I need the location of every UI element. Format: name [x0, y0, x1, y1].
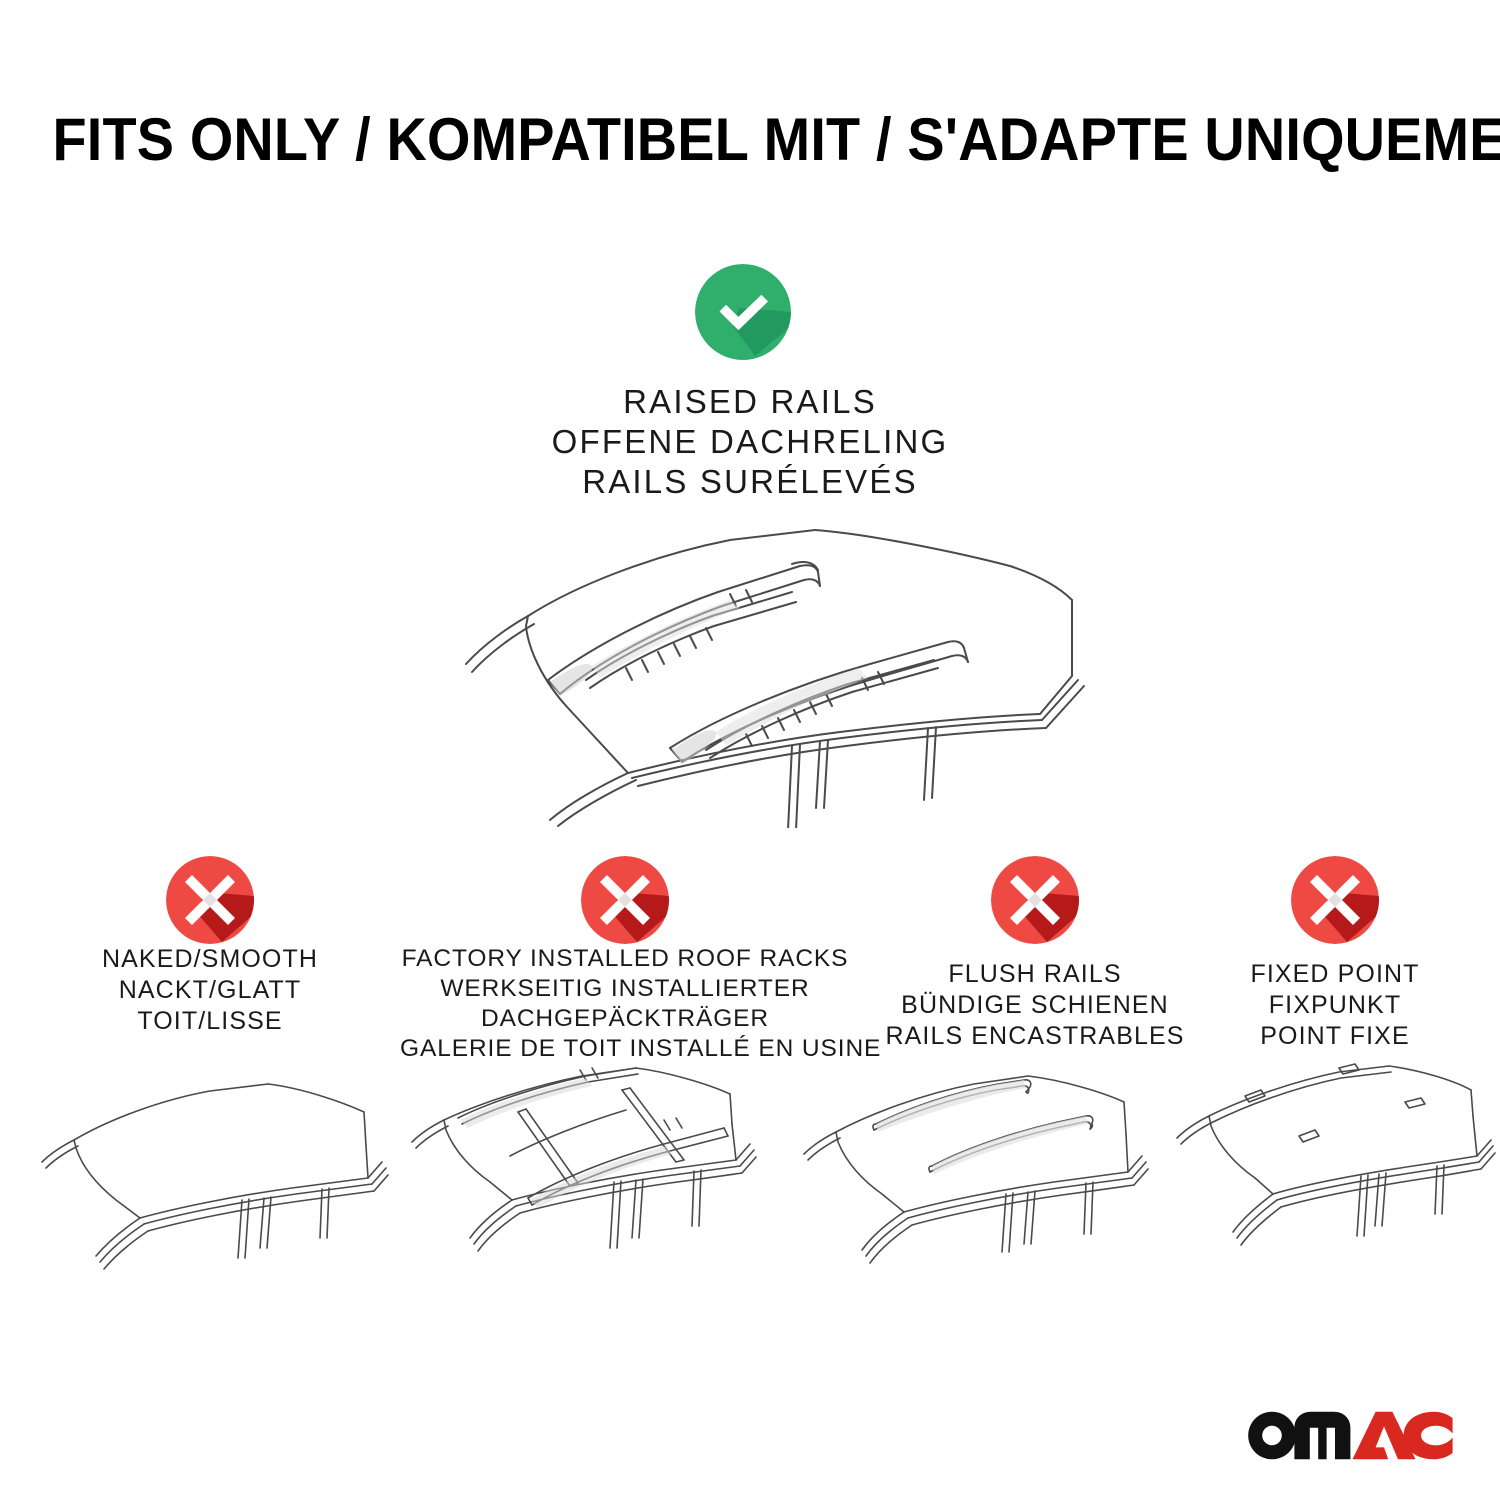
cross-circle-icon [991, 856, 1079, 944]
car-roof-raised-rails-diagram [400, 508, 1100, 828]
label-line: FIXED POINT [1200, 959, 1470, 990]
cross-circle-icon [166, 856, 254, 944]
car-roof-fixed-point-diagram [1165, 1058, 1500, 1290]
label-line: RAILS ENCASTRABLES [860, 1021, 1210, 1052]
omac-logo: OMAC [1244, 1404, 1454, 1460]
car-roof-naked-smooth-diagram [30, 1058, 400, 1290]
label-line: BÜNDIGE SCHIENEN [860, 990, 1210, 1021]
car-roof-factory-racks-diagram [400, 1058, 780, 1290]
incompatible-label-flush-rails: FLUSH RAILS BÜNDIGE SCHIENEN RAILS ENCAS… [860, 959, 1210, 1052]
label-line: NACKT/GLATT [40, 975, 380, 1006]
cross-circle-icon [581, 856, 669, 944]
page-title: FITS ONLY / KOMPATIBEL MIT / S'ADAPTE UN… [53, 104, 1448, 176]
compatible-caption-line-3: RAILS SURÉLEVÉS [0, 462, 1500, 502]
label-line: WERKSEITIG INSTALLIERTER [400, 974, 850, 1004]
incompatible-label-factory-roof-racks: FACTORY INSTALLED ROOF RACKS WERKSEITIG … [400, 944, 850, 1064]
cross-circle-icon [1291, 856, 1379, 944]
incompatible-label-fixed-point: FIXED POINT FIXPUNKT POINT FIXE [1200, 959, 1470, 1052]
car-roof-flush-rails-diagram [790, 1058, 1170, 1290]
label-line: TOIT/LISSE [40, 1006, 380, 1037]
check-circle-icon [695, 264, 791, 360]
fitment-infographic: FITS ONLY / KOMPATIBEL MIT / S'ADAPTE UN… [0, 0, 1500, 1500]
label-line: FIXPUNKT [1200, 990, 1470, 1021]
label-line: FACTORY INSTALLED ROOF RACKS [400, 944, 850, 974]
compatible-caption-line-1: RAISED RAILS [0, 382, 1500, 422]
label-line: NAKED/SMOOTH [40, 944, 380, 975]
compatible-caption-line-2: OFFENE DACHRELING [0, 422, 1500, 462]
compatible-caption: RAISED RAILS OFFENE DACHRELING RAILS SUR… [0, 382, 1500, 502]
incompatible-label-naked-smooth: NAKED/SMOOTH NACKT/GLATT TOIT/LISSE [40, 944, 380, 1037]
label-line: DACHGEPÄCKTRÄGER [400, 1004, 850, 1034]
label-line: POINT FIXE [1200, 1021, 1470, 1052]
label-line: FLUSH RAILS [860, 959, 1210, 990]
